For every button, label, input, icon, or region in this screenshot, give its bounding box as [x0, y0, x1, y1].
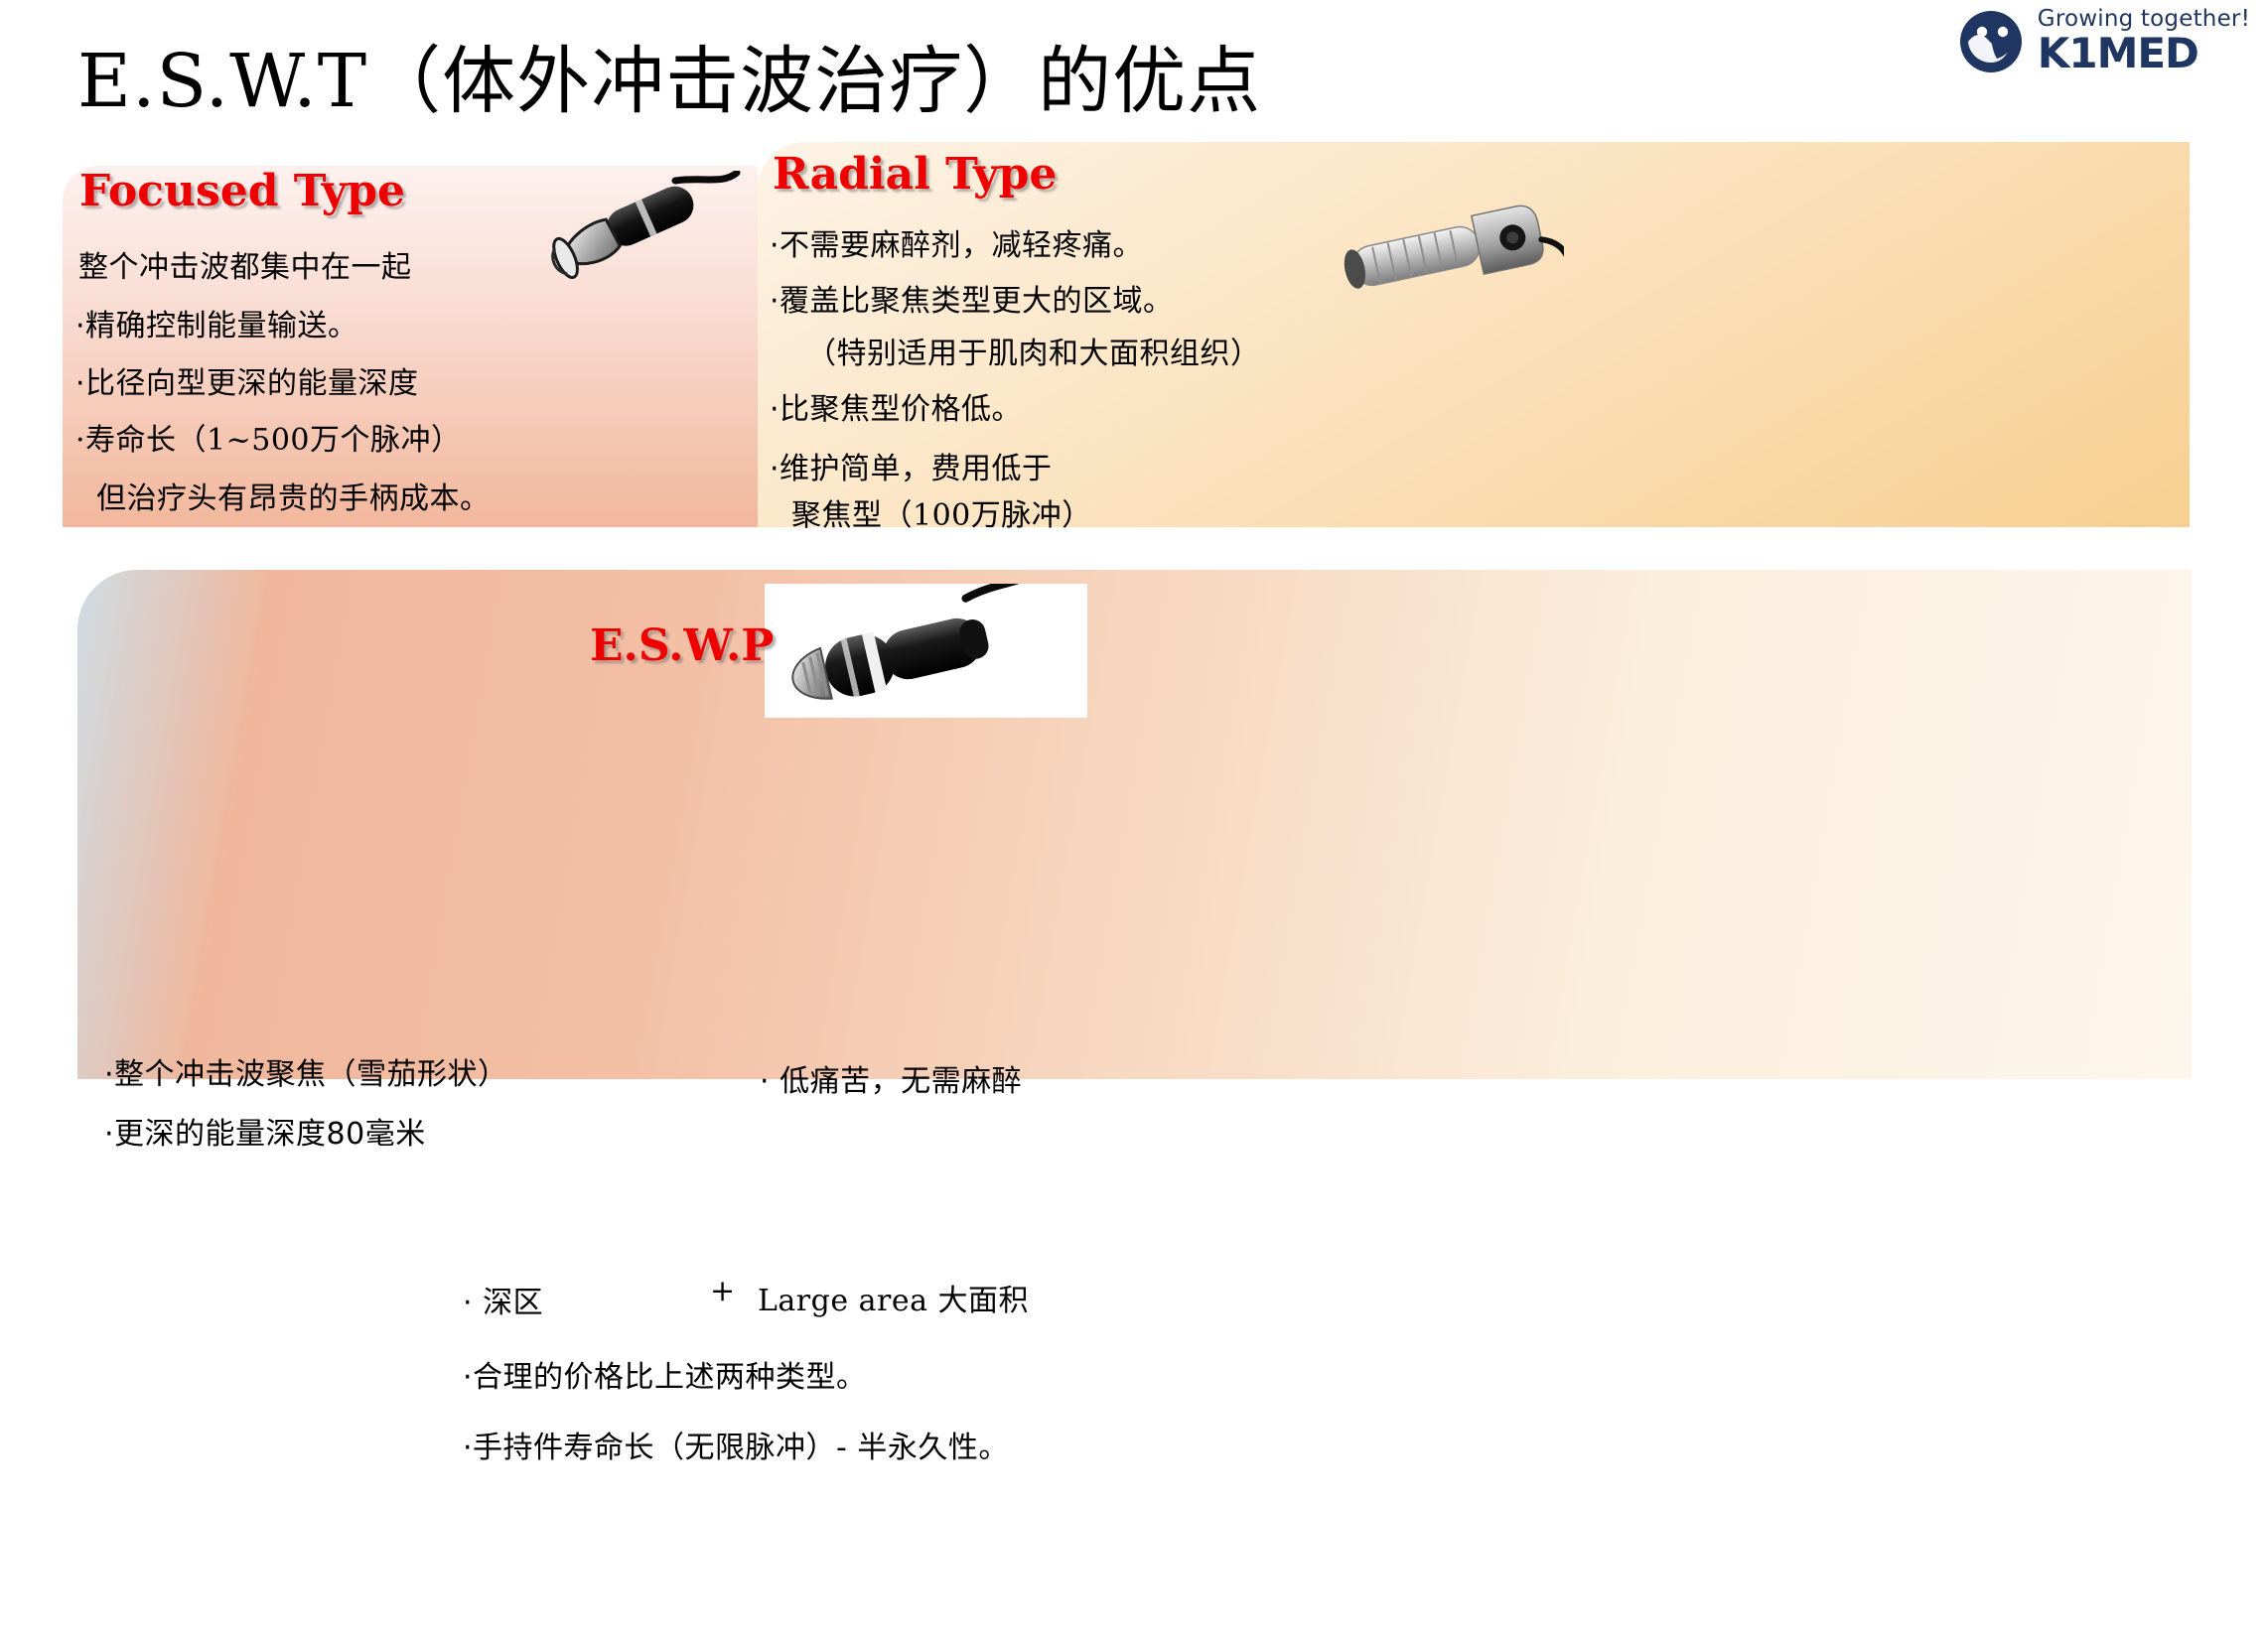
eswp-heading: E.S.W.P [590, 620, 774, 671]
eswp-left-line-1: ·更深的能量深度80毫米 [104, 1109, 426, 1153]
focused-handpiece-photo [526, 171, 760, 290]
eswp-handpiece-photo [765, 584, 1087, 718]
radial-line-2: （特别适用于肌肉和大面积组织） [806, 329, 1261, 372]
radial-line-1: ·覆盖比聚焦类型更大的区域。 [770, 276, 1174, 320]
radial-handpiece-photo [1331, 204, 1564, 313]
radial-type-heading: Radial Type [773, 149, 1057, 200]
focused-line-1: ·精确控制能量输送。 [75, 301, 358, 344]
eswp-panel [77, 570, 2192, 1079]
radial-line-4: ·维护简单，费用低于 [770, 444, 1053, 487]
logo-wordmark: Growing together! K1MED [2038, 8, 2250, 74]
logo-brand-name: K1MED [2038, 33, 2250, 74]
focused-line-3: ·寿命长（1~500万个脉冲） [75, 415, 462, 459]
page-title: E.S.W.T（体外冲击波治疗）的优点 [77, 22, 1261, 128]
radial-line-5: 聚焦型（100万脉冲） [791, 490, 1092, 534]
focused-type-heading: Focused Type [79, 166, 405, 216]
eswp-combo-large: Large area 大面积 [758, 1276, 1029, 1319]
eswp-left-line-0: ·整个冲击波聚焦（雪茄形状） [104, 1049, 508, 1093]
eswp-combo-plus: + [710, 1274, 736, 1308]
radial-line-3: ·比聚焦型价格低。 [770, 384, 1022, 428]
focused-line-0: 整个冲击波都集中在一起 [78, 242, 412, 286]
focused-line-2: ·比径向型更深的能量深度 [75, 358, 419, 402]
eswp-bottom-line-1: ·手持件寿命长（无限脉冲）- 半永久性。 [463, 1423, 1009, 1466]
k1med-circle-people-logo-icon [1958, 9, 2024, 74]
focused-line-4: 但治疗头有昂贵的手柄成本。 [96, 474, 491, 517]
slide-root: Growing together! K1MED E.S.W.T（体外冲击波治疗）… [0, 0, 2268, 1642]
logo-tagline: Growing together! [2038, 8, 2250, 31]
eswp-bottom-line-0: ·合理的价格比上述两种类型。 [463, 1352, 867, 1396]
eswp-right-line-0: · 低痛苦，无需麻醉 [760, 1056, 1022, 1100]
brand-logo: Growing together! K1MED [1958, 8, 2250, 74]
radial-line-0: ·不需要麻醉剂，减轻疼痛。 [770, 220, 1143, 264]
eswp-combo-deep: · 深区 [463, 1278, 543, 1321]
